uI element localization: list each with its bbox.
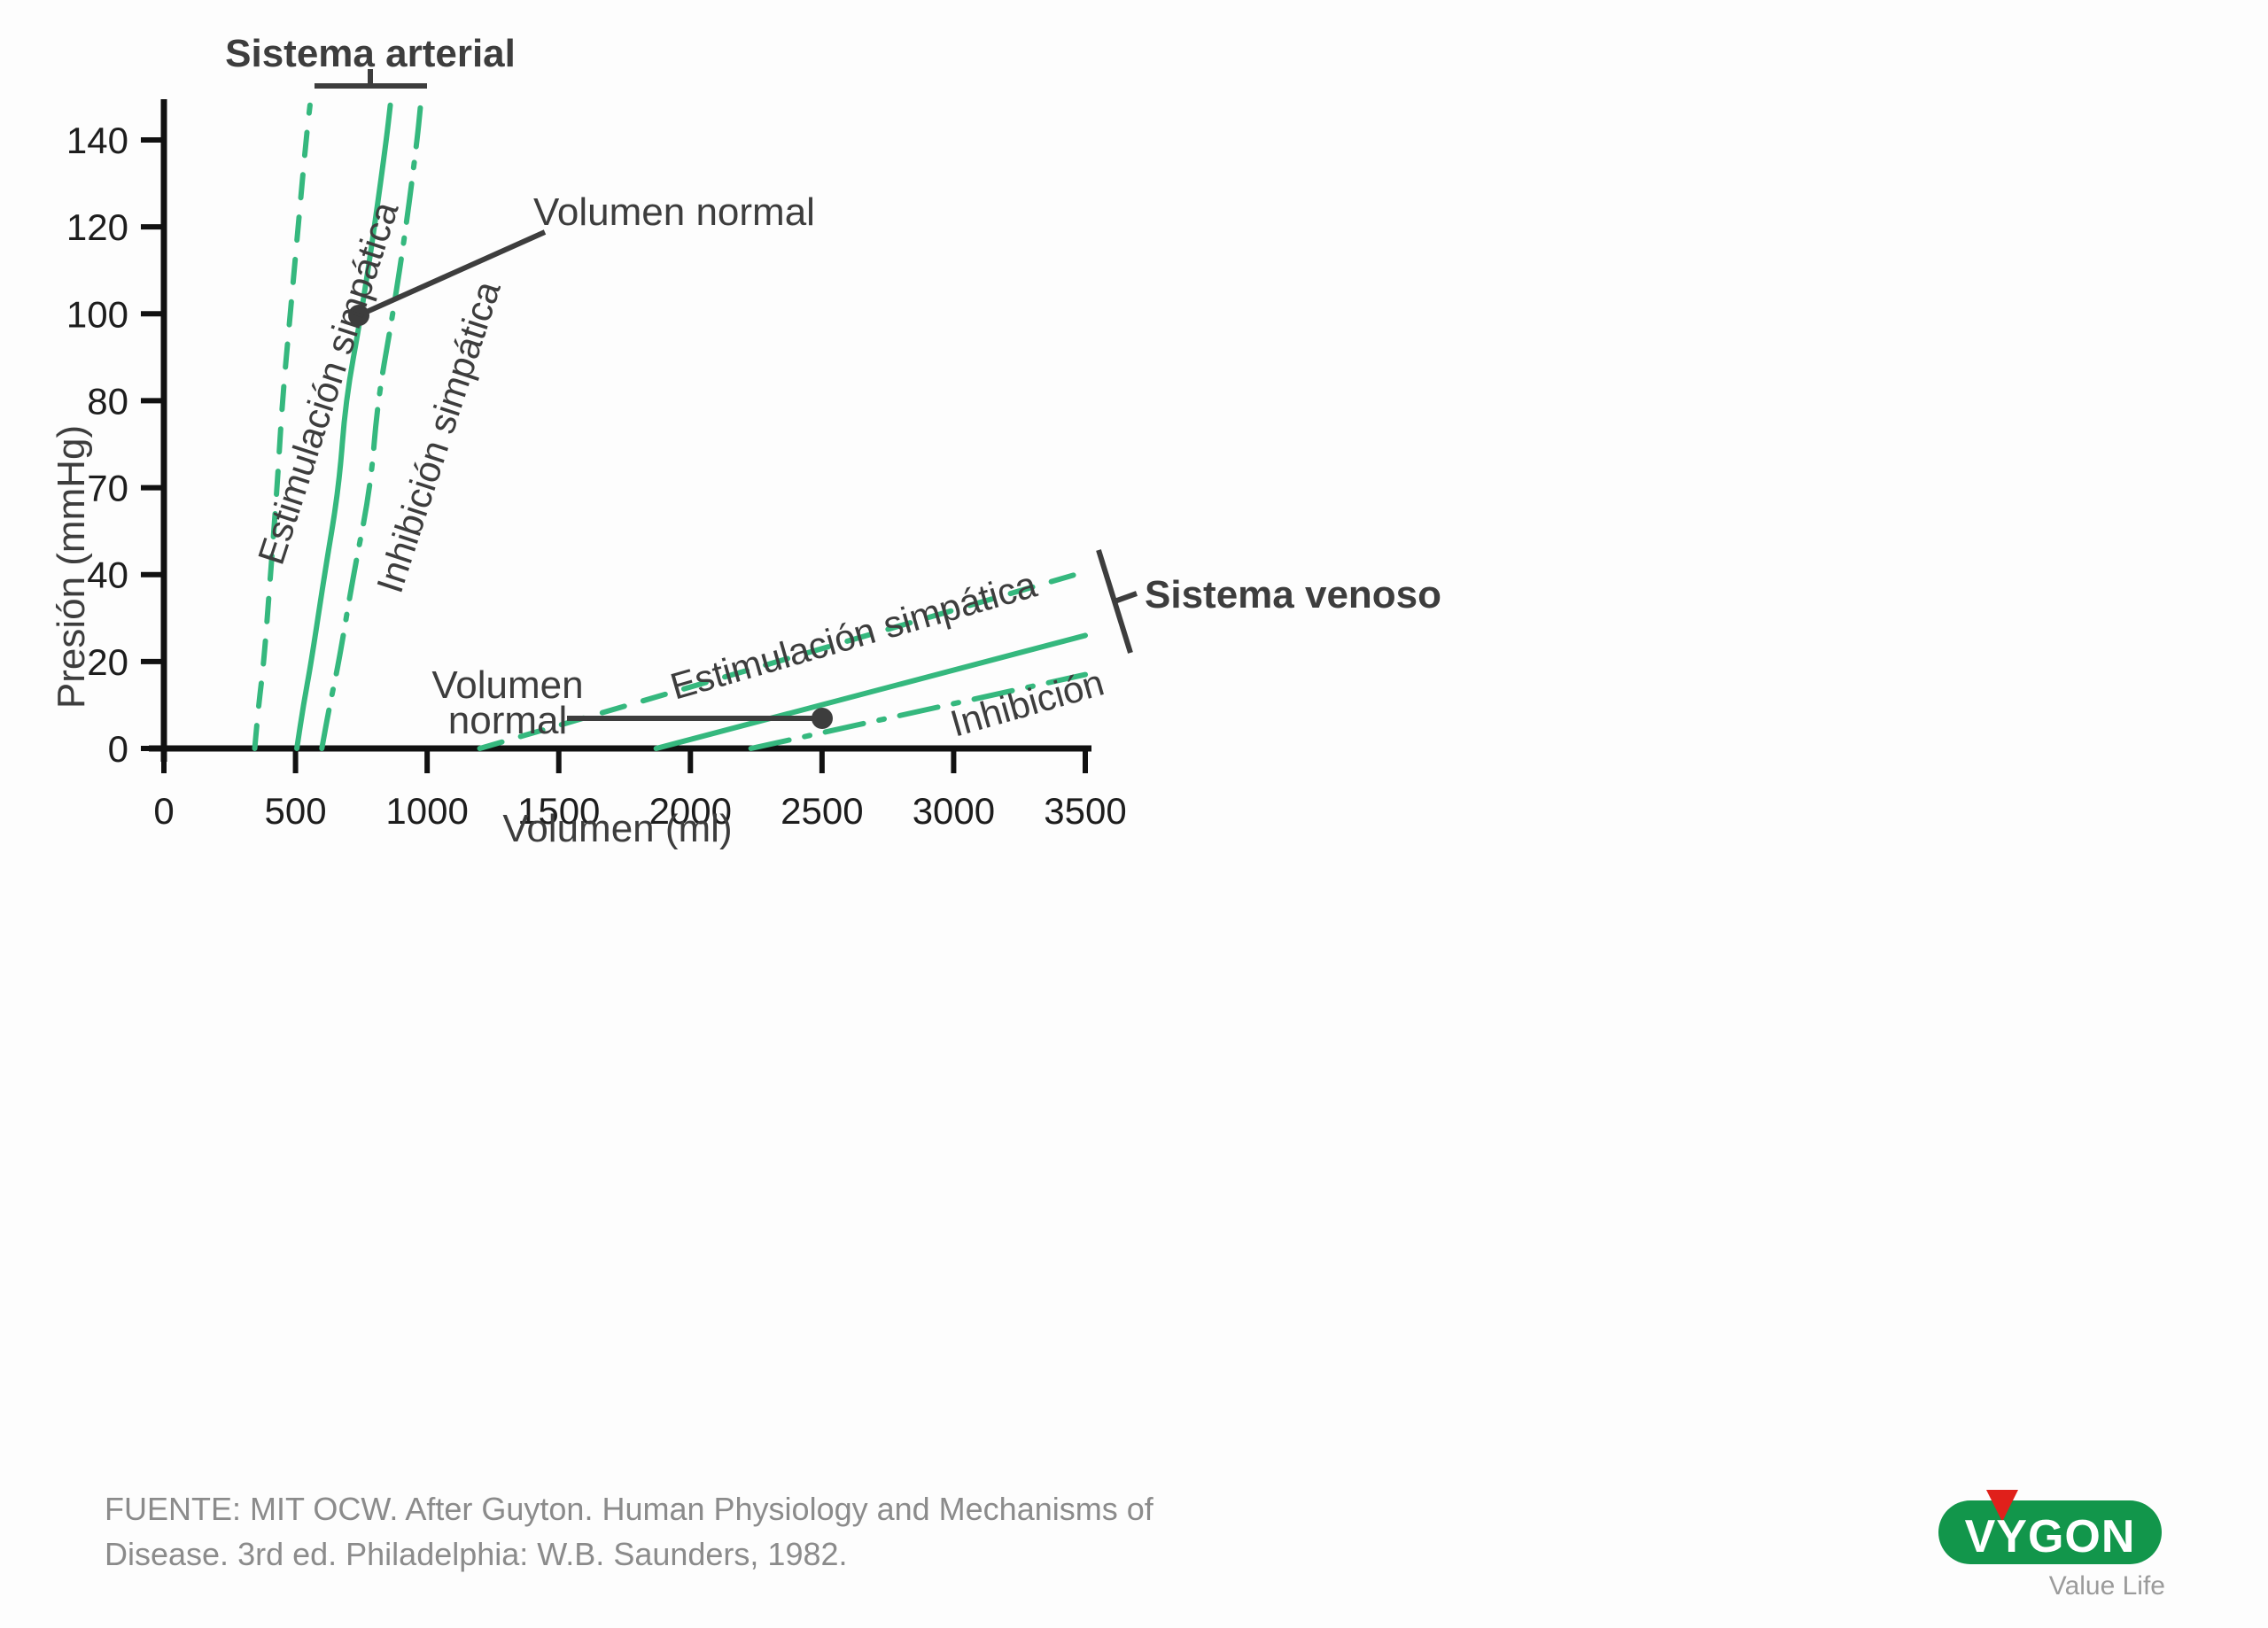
source-line2: Disease. 3rd ed. Philadelphia: W.B. Saun… <box>105 1536 848 1572</box>
x-tick-label: 1000 <box>385 790 468 832</box>
chart-figure: 020407080100120140 050010001500200025003… <box>0 0 2268 1628</box>
y-tick-label: 80 <box>87 380 128 422</box>
y-tick-label: 20 <box>87 641 128 683</box>
logo-wordmark: VYGON <box>1965 1511 2136 1562</box>
x-tick-label: 3500 <box>1044 790 1126 832</box>
bracket-arterial-label: Sistema arterial <box>225 32 516 75</box>
curve-label-arterial-estimulacion: Estimulación simpática <box>250 196 407 569</box>
logo-tagline: Value Life <box>2049 1571 2165 1601</box>
source-line1: MIT OCW. After Guyton. Human Physiology … <box>241 1491 1153 1527</box>
pressure-volume-chart: 020407080100120140 050010001500200025003… <box>0 0 2268 1628</box>
curve-label-venoso-estimulacion: Estimulación simpática <box>666 563 1042 708</box>
bracket-venoso-label: Sistema venoso <box>1145 573 1441 616</box>
curve-label-arterial-inhibicion: Inhibición simpática <box>369 275 509 598</box>
y-tick-label: 120 <box>66 206 128 248</box>
x-axis-title: Volumen (ml) <box>502 807 732 850</box>
label-volumen-normal-arterial: Volumen normal <box>533 190 815 234</box>
x-tick-label: 3000 <box>913 790 995 832</box>
y-tick-label: 40 <box>87 554 128 596</box>
source-citation: FUENTE: MIT OCW. After Guyton. Human Phy… <box>105 1486 1487 1577</box>
y-tick-label: 70 <box>87 468 128 509</box>
y-axis-title: Presión (mmHg) <box>50 425 93 709</box>
y-tick-label: 0 <box>108 728 128 770</box>
source-prefix: FUENTE: <box>105 1491 241 1527</box>
label-volumen-normal-venoso-line2: normal <box>448 699 568 742</box>
x-tick-label: 500 <box>265 790 327 832</box>
y-tick-label: 100 <box>66 293 128 335</box>
marker-dot-venoso <box>812 708 833 729</box>
x-tick-label: 0 <box>153 790 174 832</box>
vygon-logo: VYGON Value Life <box>1933 1481 2199 1605</box>
bracket-venoso <box>1099 550 1137 653</box>
curve-label-venoso-inhibicion: Inhibición <box>946 662 1109 745</box>
bracket-venoso-stem <box>1115 593 1137 601</box>
y-tick-label: 140 <box>66 120 128 161</box>
x-tick-label: 2500 <box>781 790 863 832</box>
vygon-logo-svg: VYGON Value Life <box>1933 1481 2199 1605</box>
